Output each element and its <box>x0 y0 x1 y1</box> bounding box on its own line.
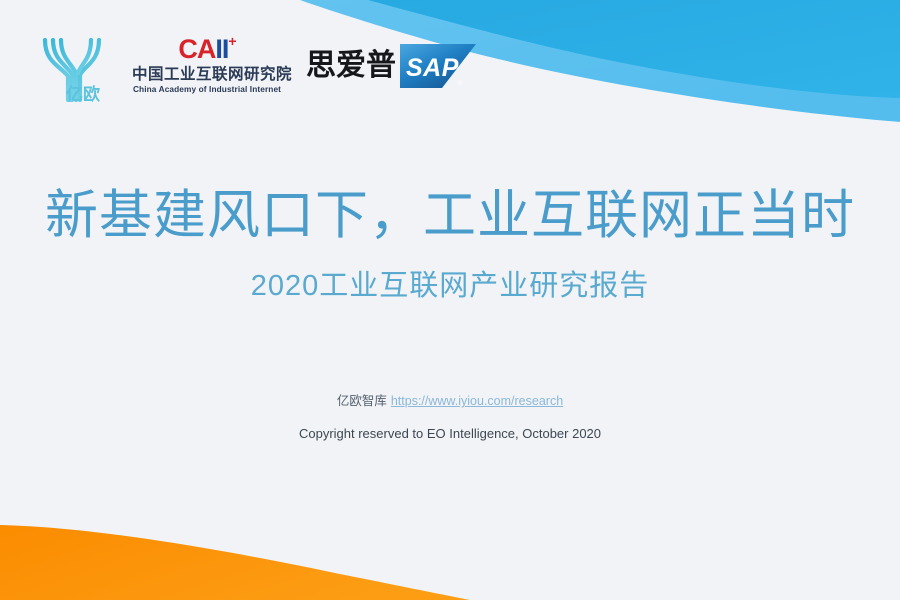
credit-block: 亿欧智库https://www.iyiou.com/research Copyr… <box>0 392 900 443</box>
page-subtitle: 2020工业互联网产业研究报告 <box>0 269 900 304</box>
title-slide: 亿欧 CAII+ 中国工业互联网研究院 China Academy of Ind… <box>0 0 900 600</box>
caii-logo: CAII+ 中国工业互联网研究院 China Academy of Indust… <box>132 36 282 95</box>
caii-acronym-ii: II <box>215 34 228 64</box>
sap-badge: SAP ® <box>400 44 476 88</box>
caii-acronym-ca: CA <box>178 34 215 64</box>
svg-text:SAP: SAP <box>406 54 459 82</box>
research-url-link[interactable]: https://www.iyiou.com/research <box>391 394 563 408</box>
iyiou-wordmark: 亿欧 <box>66 86 100 103</box>
publisher-line: 亿欧智库https://www.iyiou.com/research <box>0 392 900 411</box>
page-title: 新基建风口下，工业互联网正当时 <box>0 186 900 247</box>
publisher-name: 亿欧智库 <box>337 394 387 408</box>
svg-text:®: ® <box>458 80 463 87</box>
caii-name-cn: 中国工业互联网研究院 <box>132 66 282 84</box>
caii-acronym-plus: + <box>228 33 235 49</box>
iyiou-logo: 亿欧 <box>38 28 114 104</box>
headline-block: 新基建风口下，工业互联网正当时 2020工业互联网产业研究报告 <box>0 186 900 304</box>
bottom-orange-swoosh <box>0 525 470 600</box>
caii-name-en: China Academy of Industrial Internet <box>132 84 282 96</box>
caii-acronym: CAII+ <box>132 36 282 63</box>
logo-bar: 亿欧 CAII+ 中国工业互联网研究院 China Academy of Ind… <box>38 28 476 104</box>
sap-name-cn: 思爱普 <box>306 51 396 81</box>
copyright-line: Copyright reserved to EO Intelligence, O… <box>0 424 900 444</box>
sap-logo: 思爱普 SAP ® <box>306 44 476 88</box>
